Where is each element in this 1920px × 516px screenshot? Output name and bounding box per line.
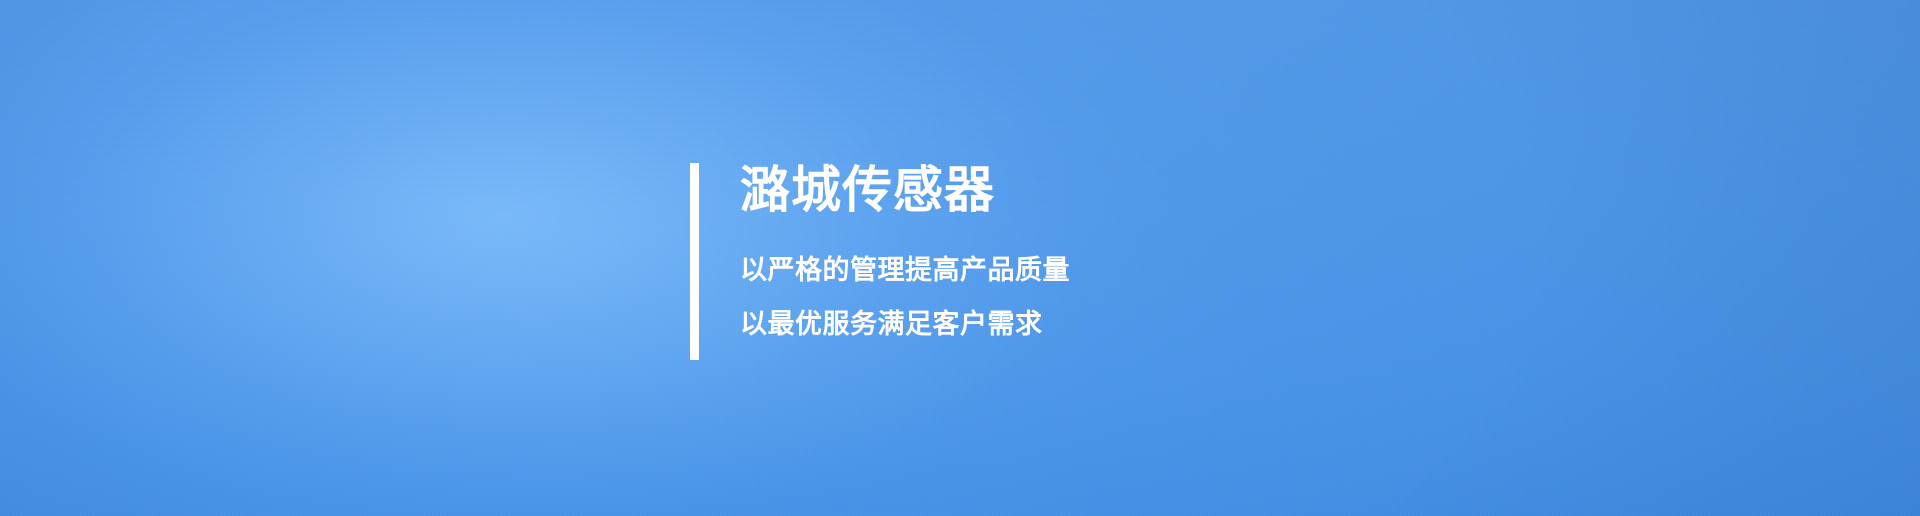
banner-headline: 潞城传感器 [740,163,1070,215]
vertical-accent-bar [690,163,699,360]
banner-text-column: 潞城传感器 以严格的管理提高产品质量 以最优服务满足客户需求 [740,163,1070,338]
banner-tagline-quality: 以严格的管理提高产品质量 [740,257,1070,284]
banner-content: 潞城传感器 以严格的管理提高产品质量 以最优服务满足客户需求 [690,163,1070,360]
banner-tagline-service: 以最优服务满足客户需求 [740,311,1070,338]
hero-banner: 潞城传感器 以严格的管理提高产品质量 以最优服务满足客户需求 [0,0,1920,516]
